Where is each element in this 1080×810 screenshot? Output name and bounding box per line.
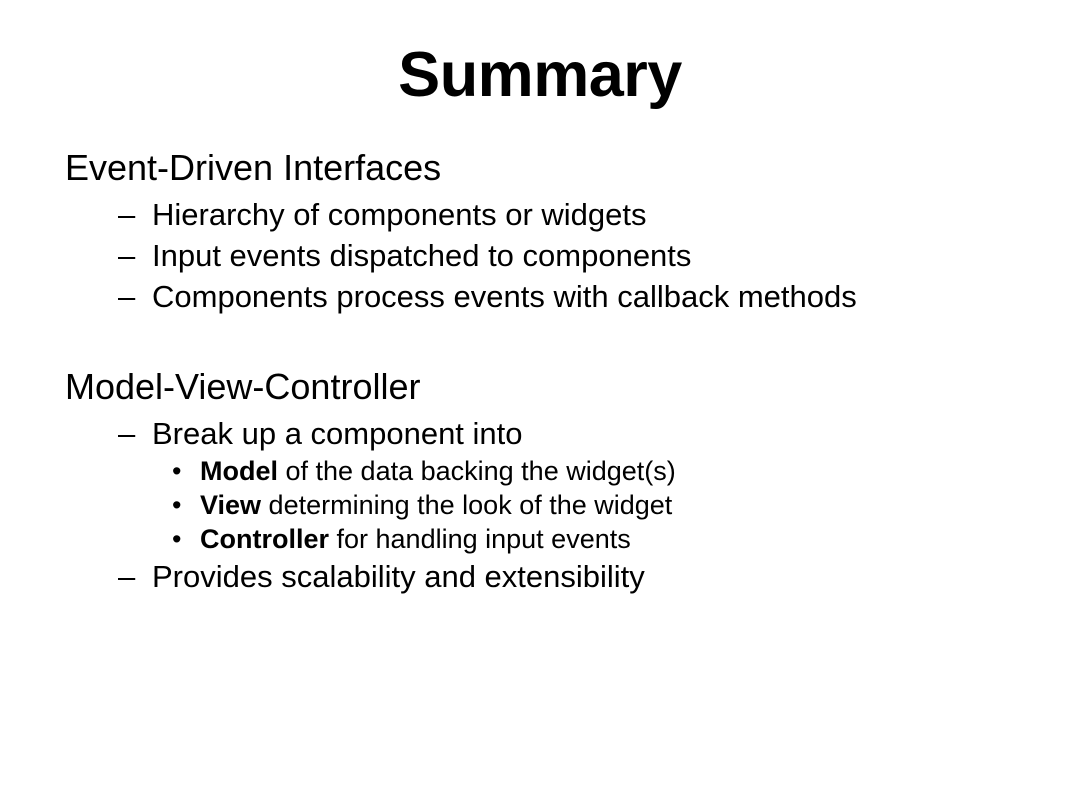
slide-body: Event-Driven Interfaces – Hierarchy of c…	[0, 146, 1080, 597]
sub-bullet-item: • Model of the data backing the widget(s…	[0, 454, 1080, 488]
bullet-text: Break up a component into	[152, 416, 523, 451]
sub-bullet-group: • Model of the data backing the widget(s…	[0, 454, 1080, 556]
sub-bullet-lead: Model	[200, 456, 278, 486]
presentation-slide: Summary Event-Driven Interfaces – Hierar…	[0, 0, 1080, 810]
bullet-text: Hierarchy of components or widgets	[152, 197, 647, 232]
section-model-view-controller: Model-View-Controller – Break up a compo…	[0, 365, 1080, 597]
bullet-item: – Input events dispatched to components	[0, 235, 1080, 276]
sub-bullet-text: for handling input events	[329, 524, 631, 554]
bullet-text: Provides scalability and extensibility	[152, 559, 645, 594]
dash-bullet-icon: –	[118, 194, 142, 235]
section-heading: Model-View-Controller	[0, 365, 1080, 409]
sub-bullet-lead: Controller	[200, 524, 329, 554]
dash-bullet-icon: –	[118, 413, 142, 454]
round-bullet-icon: •	[172, 454, 192, 488]
sub-bullet-text: determining the look of the widget	[261, 490, 672, 520]
bullet-text: Input events dispatched to components	[152, 238, 691, 273]
sub-bullet-item: • View determining the look of the widge…	[0, 488, 1080, 522]
round-bullet-icon: •	[172, 522, 192, 556]
section-heading: Event-Driven Interfaces	[0, 146, 1080, 190]
bullet-item: – Hierarchy of components or widgets	[0, 194, 1080, 235]
sub-bullet-item: • Controller for handling input events	[0, 522, 1080, 556]
dash-bullet-icon: –	[118, 556, 142, 597]
sub-bullet-text: of the data backing the widget(s)	[278, 456, 676, 486]
sub-bullet-lead: View	[200, 490, 261, 520]
round-bullet-icon: •	[172, 488, 192, 522]
bullet-item: – Provides scalability and extensibility	[0, 556, 1080, 597]
section-event-driven-interfaces: Event-Driven Interfaces – Hierarchy of c…	[0, 146, 1080, 317]
bullet-item: – Components process events with callbac…	[0, 276, 1080, 317]
bullet-text: Components process events with callback …	[152, 279, 857, 314]
bullet-item: – Break up a component into	[0, 413, 1080, 454]
slide-title: Summary	[0, 42, 1080, 108]
dash-bullet-icon: –	[118, 276, 142, 317]
dash-bullet-icon: –	[118, 235, 142, 276]
